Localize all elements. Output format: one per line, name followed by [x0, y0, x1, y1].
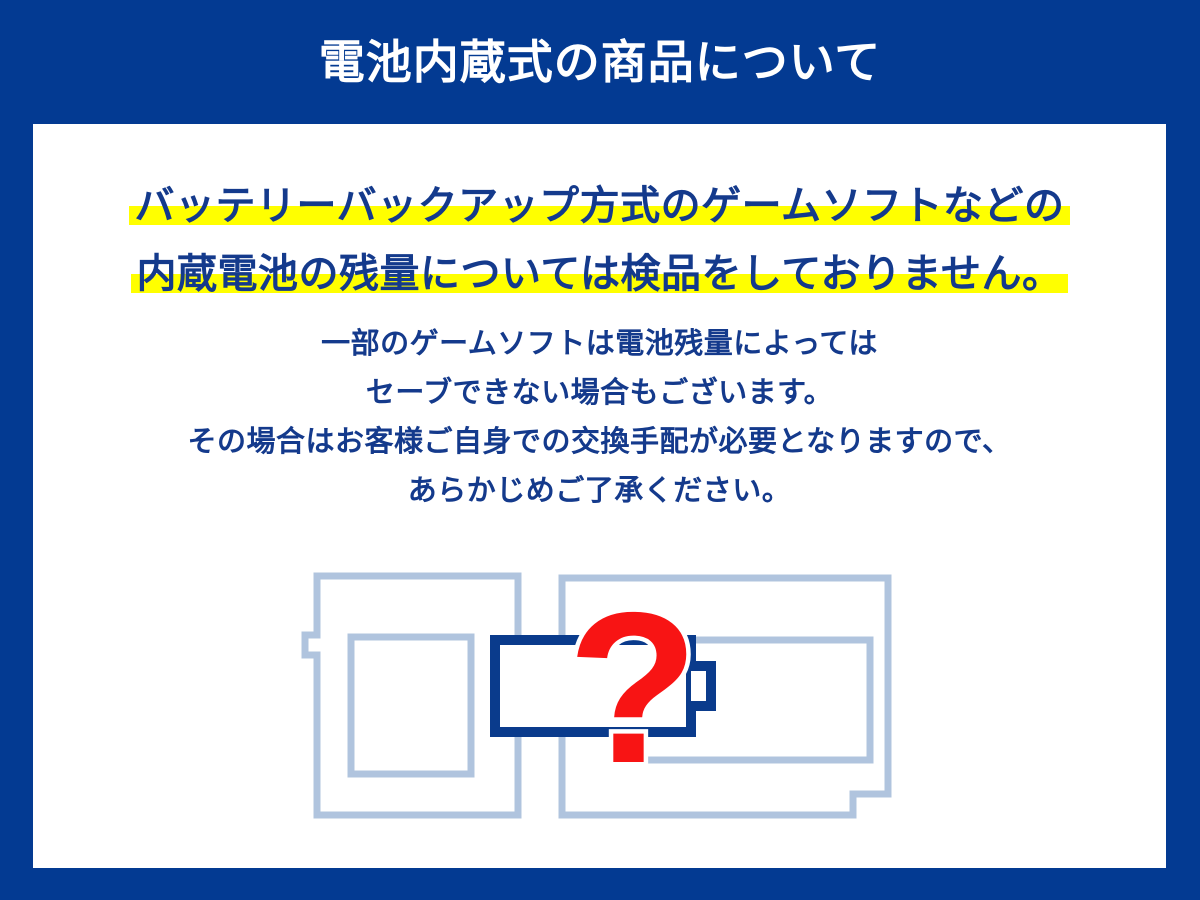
- body-line-1: 一部のゲームソフトは電池残量によっては: [33, 320, 1166, 369]
- body-line-4: あらかじめご了承ください。: [33, 467, 1166, 516]
- headline-block: バッテリーバックアップ方式のゲームソフトなどの 内蔵電池の残量については検品をし…: [33, 172, 1166, 308]
- body-line-3: その場合はお客様ご自身での交換手配が必要となりますので、: [33, 418, 1166, 467]
- page-title: 電池内蔵式の商品について: [319, 39, 882, 85]
- question-mark-icon: ?: [567, 567, 698, 808]
- body-paragraph: 一部のゲームソフトは電池残量によっては セーブできない場合もございます。 その場…: [33, 320, 1166, 516]
- body-line-2: セーブできない場合もございます。: [33, 369, 1166, 418]
- game-cartridge-left-icon: [305, 576, 518, 815]
- headline-line-2: 内蔵電池の残量については検品をしておりません。: [33, 240, 1166, 308]
- content-card: バッテリーバックアップ方式のゲームソフトなどの 内蔵電池の残量については検品をし…: [33, 124, 1166, 868]
- headline-line-1: バッテリーバックアップ方式のゲームソフトなどの: [33, 172, 1166, 240]
- slide-root: 電池内蔵式の商品について バッテリーバックアップ方式のゲームソフトなどの 内蔵電…: [0, 0, 1200, 900]
- headline-text-1: バッテリーバックアップ方式のゲームソフトなどの: [129, 172, 1071, 240]
- header-band: 電池内蔵式の商品について: [0, 0, 1200, 124]
- headline-text-2: 内蔵電池の残量については検品をしておりません。: [131, 240, 1069, 308]
- illustration-area: ?: [33, 544, 1166, 844]
- question-mark-glyph: ?: [567, 567, 698, 808]
